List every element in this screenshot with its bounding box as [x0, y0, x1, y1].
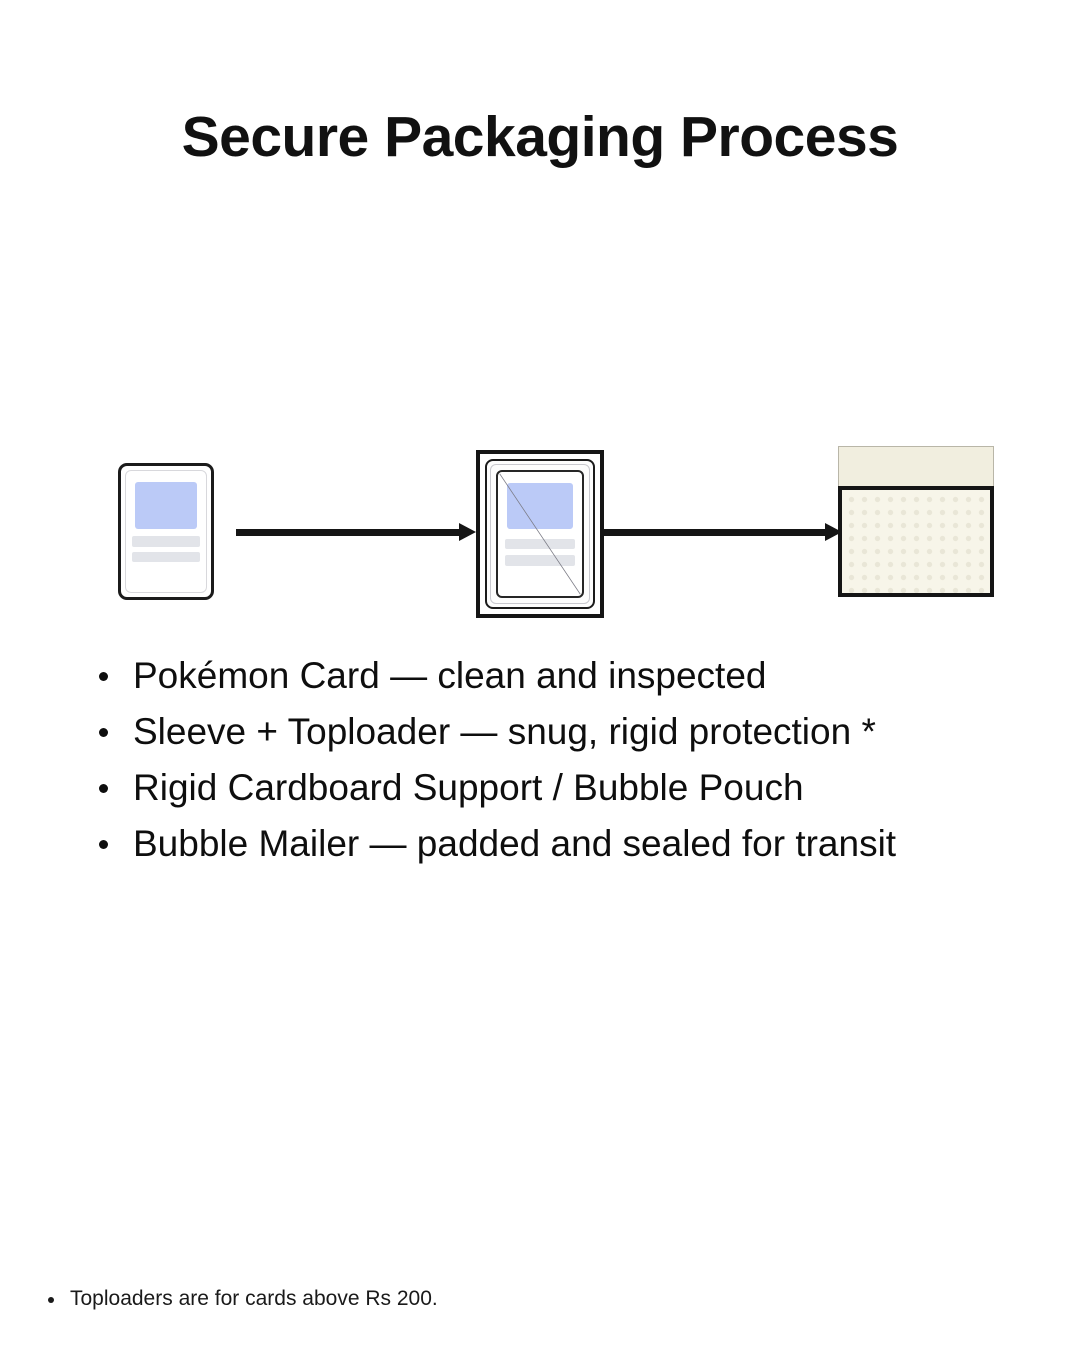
list-item-label: Sleeve + Toploader — snug, rigid protect…	[133, 711, 876, 752]
list-item: Sleeve + Toploader — snug, rigid protect…	[95, 704, 1045, 760]
bullet-dot-icon	[48, 1297, 54, 1303]
footnote: Toploaders are for cards above Rs 200.	[44, 1284, 944, 1314]
flow-arrow-1	[236, 521, 476, 543]
packaging-process-diagram	[0, 430, 1080, 640]
flow-arrow-2	[604, 521, 842, 543]
sleeve-illustration	[485, 459, 595, 609]
bullet-dot-icon	[99, 784, 108, 793]
footnote-label: Toploaders are for cards above Rs 200.	[70, 1287, 438, 1310]
card-text-bar	[505, 555, 576, 566]
card-text-bar	[132, 536, 199, 546]
arrow-head-icon	[459, 523, 476, 541]
card-inner-frame	[125, 470, 207, 593]
arrow-shaft	[604, 529, 828, 536]
list-item: Rigid Cardboard Support / Bubble Pouch	[95, 760, 1045, 816]
card-artwork-panel	[507, 483, 573, 529]
footnote-item: Toploaders are for cards above Rs 200.	[44, 1284, 944, 1314]
list-item-label: Pokémon Card — clean and inspected	[133, 655, 766, 696]
mailer-flap	[838, 446, 994, 487]
list-item-label: Rigid Cardboard Support / Bubble Pouch	[133, 767, 804, 808]
bubble-wrap-texture	[842, 490, 990, 593]
card-inside-sleeve	[496, 470, 584, 598]
list-item: Bubble Mailer — padded and sealed for tr…	[95, 816, 1045, 872]
arrow-shaft	[236, 529, 462, 536]
card-artwork-panel	[135, 482, 197, 529]
bullet-dot-icon	[99, 672, 108, 681]
bullet-dot-icon	[99, 728, 108, 737]
list-item-label: Bubble Mailer — padded and sealed for tr…	[133, 823, 896, 864]
card-text-bar	[505, 539, 576, 550]
list-item: Pokémon Card — clean and inspected	[95, 648, 1045, 704]
bubble-mailer-illustration	[838, 446, 994, 597]
pokemon-card-illustration	[118, 463, 214, 600]
page-title: Secure Packaging Process	[0, 105, 1080, 171]
bullet-dot-icon	[99, 840, 108, 849]
toploader-illustration	[476, 450, 604, 618]
card-text-bar	[132, 552, 199, 562]
packaging-steps-list: Pokémon Card — clean and inspected Sleev…	[95, 648, 1045, 872]
mailer-body	[838, 486, 994, 597]
